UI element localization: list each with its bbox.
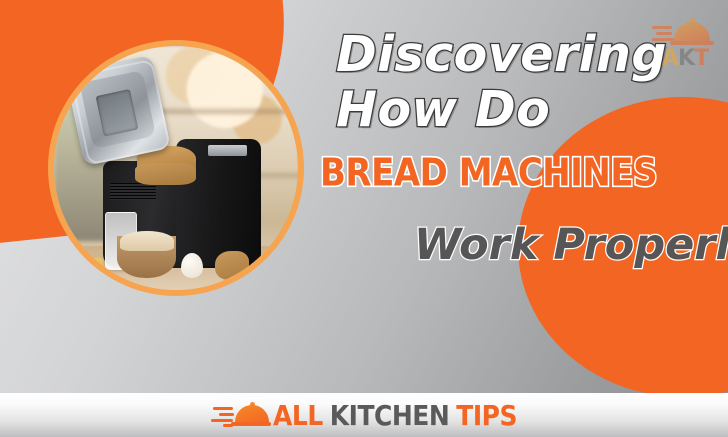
watermark-letter-t: T	[694, 46, 708, 71]
headline-line-4: Work Properly	[318, 224, 714, 267]
egg	[181, 253, 203, 277]
bread-roll	[215, 251, 249, 280]
footer-logo-word-kitchen: KITCHEN	[330, 399, 450, 431]
headline-line-3: BREAD MACHINES	[318, 154, 714, 192]
cloche-dome-icon	[674, 22, 710, 42]
footer-logo-word-tips: TIPS	[456, 399, 517, 431]
cloche-dome-icon	[235, 405, 269, 423]
bread-machine-open-lid	[65, 55, 171, 166]
headline-line-2: How Do	[318, 85, 714, 134]
footer-logo-word-all: ALL	[273, 399, 323, 431]
photo-ring	[48, 40, 304, 296]
watermark-letter-k: K	[678, 46, 694, 71]
cloche-base-icon	[670, 41, 714, 45]
lid-edge	[69, 59, 171, 166]
watermark-letter-a: A	[662, 46, 678, 71]
bread-machine-photo	[54, 46, 298, 290]
watermark-logo-text: AKT	[662, 46, 708, 71]
cloche-base-icon	[231, 422, 271, 426]
shelf-blur-top	[152, 109, 298, 114]
bread-loaf-shadow	[135, 163, 196, 185]
flour-heap	[120, 231, 174, 251]
watermark-logo: AKT	[652, 22, 714, 74]
bread-machine-control-panel	[208, 145, 247, 156]
butter-block	[81, 258, 103, 280]
bread-machine-vents	[110, 183, 156, 200]
footer-bar: ALL KITCHEN TIPS	[0, 393, 728, 437]
footer-logo[interactable]: ALL KITCHEN TIPS	[211, 402, 517, 428]
banner-canvas: Discovering How Do BREAD MACHINES Work P…	[0, 0, 728, 437]
cloche-speed-icon	[211, 402, 271, 428]
